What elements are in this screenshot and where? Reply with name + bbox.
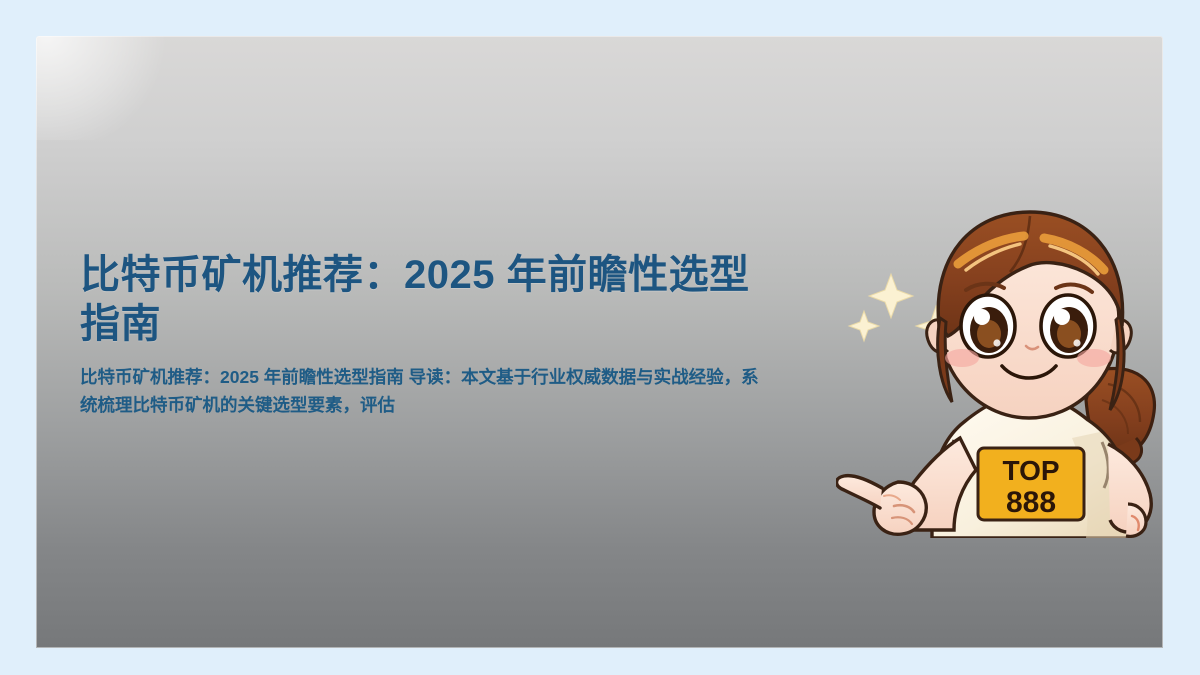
screenshot-canvas: 比特币矿机推荐：2025 年前瞻性选型指南 比特币矿机推荐：2025 年前瞻性选… (0, 0, 1200, 675)
hip-arm (1108, 444, 1151, 536)
cartoon-girl-illustration: TOP 888 (836, 186, 1163, 538)
page-title: 比特币矿机推荐：2025 年前瞻性选型指南 (80, 251, 780, 349)
sparkle-icon (849, 311, 879, 341)
slide-text-block: 比特币矿机推荐：2025 年前瞻性选型指南 比特币矿机推荐：2025 年前瞻性选… (80, 251, 780, 419)
eye-left (961, 295, 1015, 357)
shirt-badge: TOP 888 (978, 448, 1084, 520)
pointing-arm (837, 438, 977, 534)
eye-right (1041, 295, 1095, 357)
slide-body-text: 比特币矿机推荐：2025 年前瞻性选型指南 导读：本文基于行业权威数据与实战经验… (80, 363, 770, 420)
badge-line-1: TOP (1002, 455, 1059, 486)
presentation-slide: 比特币矿机推荐：2025 年前瞻性选型指南 比特币矿机推荐：2025 年前瞻性选… (36, 36, 1163, 648)
sparkle-icon (869, 274, 913, 318)
badge-line-2: 888 (1006, 486, 1056, 519)
